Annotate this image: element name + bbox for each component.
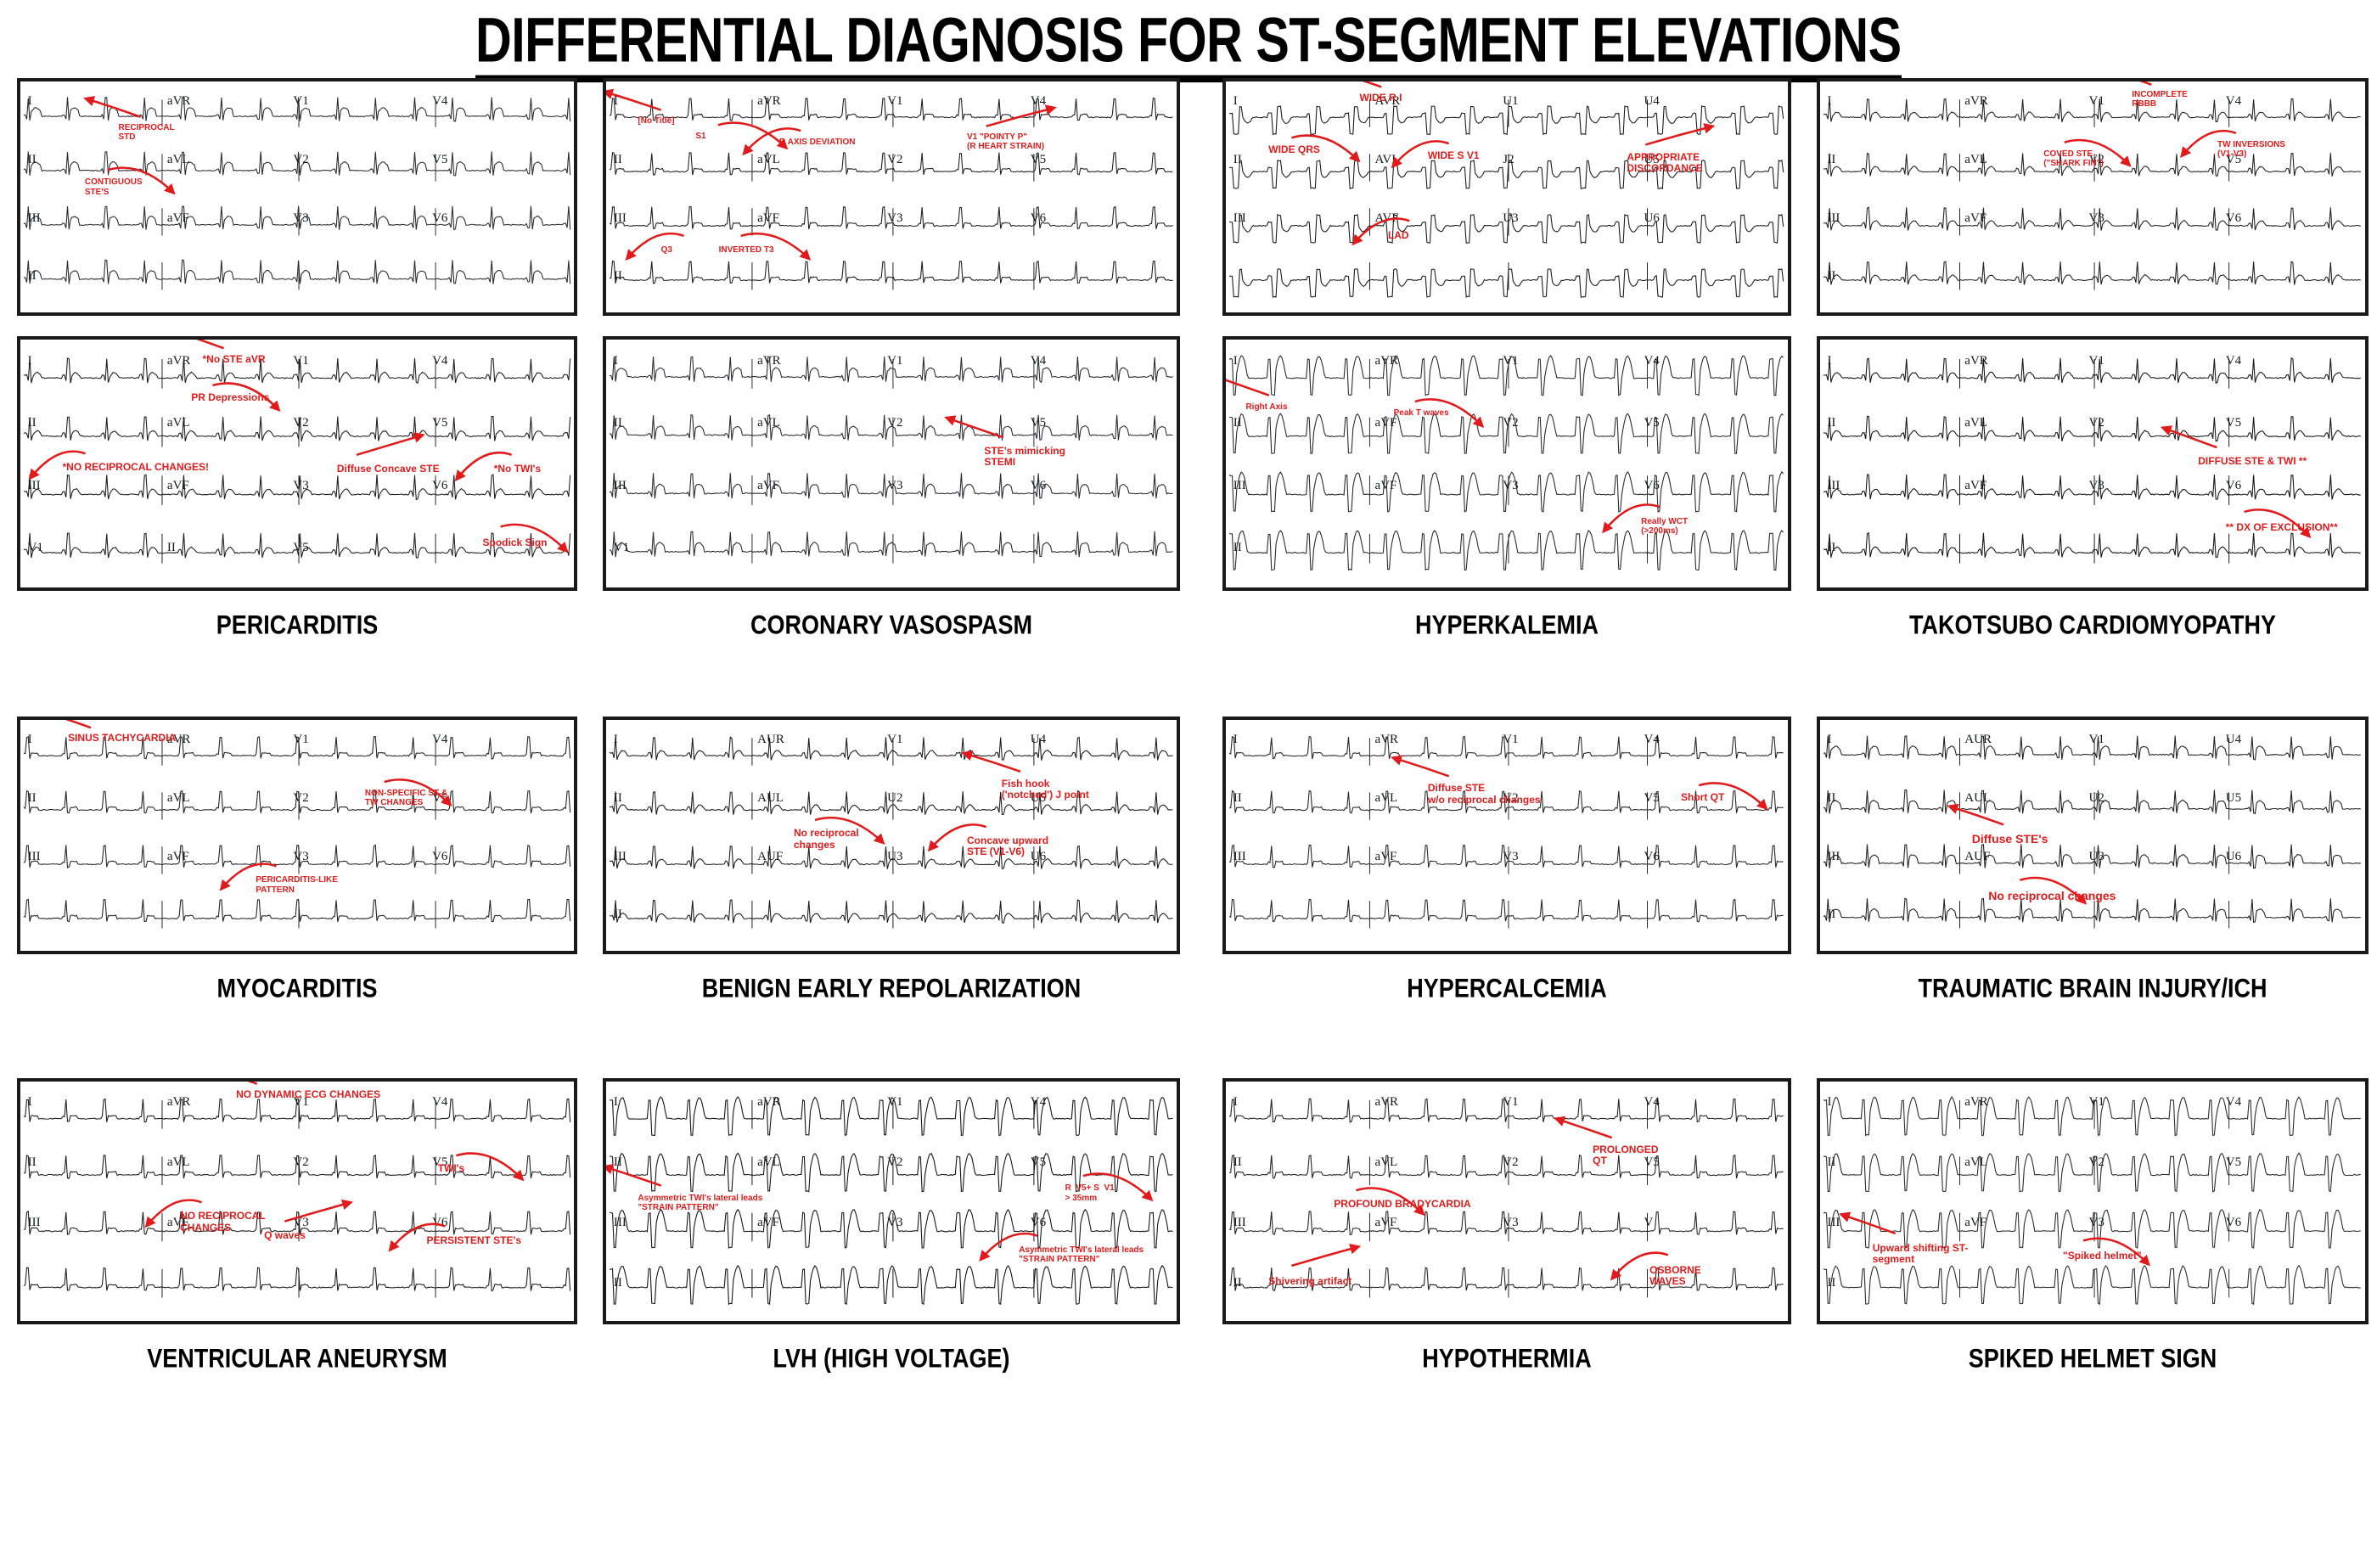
- panel-caption-hypercalcemia: HYPERCALCEMIA: [1222, 973, 1791, 1004]
- panel-ventricular-aneurysm: IaVRV1V4IIaVLV2V5IIIaVFV3V6NO DYNAMIC EC…: [17, 1078, 577, 1384]
- annotation-arrow-layer: [20, 340, 574, 587]
- panel-caption-ventricular-aneurysm: VENTRICULAR ANEURYSM: [17, 1343, 577, 1374]
- ecg-image-lvh-high-voltage: IaVRV1V4IIaVLV2V5IIIaVFV3V6IIAsymmetric …: [603, 1078, 1180, 1324]
- annotation-arrow-layer: [606, 720, 1177, 951]
- panel-pulmonary-embolism: IaVRV1V4IIaVLV2V5IIIaVFV3V6II[No Title]S…: [603, 78, 1180, 375]
- annotation-arrow-layer: [606, 1082, 1177, 1321]
- annotation-arrow-layer: [606, 340, 1177, 587]
- panel-hypothermia: IaVRV1V4IIaVLV2V5IIIaVFV3VIIPROLONGED QT…: [1222, 1078, 1791, 1384]
- annotation-arrow-layer: [20, 720, 574, 951]
- annotation-arrow-layer: [1226, 720, 1788, 951]
- annotation-arrow-layer: [20, 81, 574, 312]
- annotation-arrow-layer: [1820, 81, 2365, 312]
- infographic-page: DIFFERENTIAL DIAGNOSIS FOR ST-SEGMENT EL…: [0, 0, 2377, 1568]
- panel-caption-takotsubo-cardiomyopathy: TAKOTSUBO CARDIOMYOPATHY: [1817, 610, 2369, 641]
- annotation-arrow-layer: [1820, 720, 2365, 951]
- panel-myocarditis: IaVRV1V4IIaVLV2V5IIIaVFV3V6SINUS TACHYCA…: [17, 717, 577, 1014]
- annotation-arrow-layer: [1226, 81, 1788, 312]
- title-bar: DIFFERENTIAL DIAGNOSIS FOR ST-SEGMENT EL…: [0, 7, 2377, 69]
- panel-traumatic-brain-injury: IAURV1U4IIAULU2U5IIIAUFU3U6IIDiffuse STE…: [1817, 717, 2369, 1014]
- ecg-image-ventricular-aneurysm: IaVRV1V4IIaVLV2V5IIIaVFV3V6NO DYNAMIC EC…: [17, 1078, 577, 1324]
- panel-coronary-vasospasm: IaVRV1V4IIaVLV2V5IIIaVFV3V6V1STE's mimic…: [603, 336, 1180, 650]
- ecg-image-traumatic-brain-injury: IAURV1U4IIAULU2U5IIIAUFU3U6IIDiffuse STE…: [1817, 717, 2369, 954]
- panel-brugada-sign: IaVRV1V4IIaVLV2V5IIIaVFV3V6IIINCOMPLETE …: [1817, 78, 2369, 375]
- annotation-arrow-layer: [1820, 1082, 2365, 1321]
- ecg-image-pericarditis: IaVRV1V4IIaVLV2V5IIIaVFV3V6V1IIV5*No STE…: [17, 336, 577, 591]
- annotation-arrow-layer: [1820, 340, 2365, 587]
- page-title: DIFFERENTIAL DIAGNOSIS FOR ST-SEGMENT EL…: [475, 7, 1902, 82]
- panel-spiked-helmet-sign: IaVRV1V4IIaVLV2V5IIIaVFV3V6IIUpward shif…: [1817, 1078, 2369, 1384]
- panel-takotsubo-cardiomyopathy: IaVRV1V4IIaVLV2V5IIIaVFV3V6IIDIFFUSE STE…: [1817, 336, 2369, 650]
- ecg-image-hyperkalemia: IaVRV1V4IIaVFV2V5IIIaVFV3V6IIRight AxisP…: [1222, 336, 1791, 591]
- annotation-arrow-layer: [606, 81, 1177, 312]
- ecg-image-acute-stemi: IaVRV1V4IIaVLV2V5IIIaVFV3V6IIRECIPROCAL …: [17, 78, 577, 316]
- ecg-image-lbbb-pacemaker: IAVRU1U4IIAVLJ2U5IIIAVFU3U6WIDE R IWIDE …: [1222, 78, 1791, 316]
- panel-caption-pericarditis: PERICARDITIS: [17, 610, 577, 641]
- panel-caption-benign-early-repolarization: BENIGN EARLY REPOLARIZATION: [603, 973, 1180, 1004]
- panel-caption-coronary-vasospasm: CORONARY VASOSPASM: [603, 610, 1180, 641]
- annotation-arrow-layer: [1226, 340, 1788, 587]
- panel-caption-spiked-helmet-sign: SPIKED HELMET SIGN: [1817, 1343, 2369, 1374]
- panel-grid: IaVRV1V4IIaVLV2V5IIIaVFV3V6IIRECIPROCAL …: [0, 81, 2377, 1568]
- panel-lbbb-pacemaker: IAVRU1U4IIAVLJ2U5IIIAVFU3U6WIDE R IWIDE …: [1222, 78, 1791, 375]
- panel-caption-lvh-high-voltage: LVH (HIGH VOLTAGE): [603, 1343, 1180, 1374]
- panel-caption-traumatic-brain-injury: TRAUMATIC BRAIN INJURY/ICH: [1817, 973, 2369, 1004]
- ecg-image-coronary-vasospasm: IaVRV1V4IIaVLV2V5IIIaVFV3V6V1STE's mimic…: [603, 336, 1180, 591]
- ecg-image-pulmonary-embolism: IaVRV1V4IIaVLV2V5IIIaVFV3V6II[No Title]S…: [603, 78, 1180, 316]
- ecg-image-hypothermia: IaVRV1V4IIaVLV2V5IIIaVFV3VIIPROLONGED QT…: [1222, 1078, 1791, 1324]
- panel-lvh-high-voltage: IaVRV1V4IIaVLV2V5IIIaVFV3V6IIAsymmetric …: [603, 1078, 1180, 1384]
- panel-hyperkalemia: IaVRV1V4IIaVFV2V5IIIaVFV3V6IIRight AxisP…: [1222, 336, 1791, 650]
- panel-caption-hypothermia: HYPOTHERMIA: [1222, 1343, 1791, 1374]
- panel-hypercalcemia: IaVRV1V4IIaVLV2V5IIIaVFV3V6Diffuse STE w…: [1222, 717, 1791, 1014]
- panel-caption-hyperkalemia: HYPERKALEMIA: [1222, 610, 1791, 641]
- ecg-image-takotsubo-cardiomyopathy: IaVRV1V4IIaVLV2V5IIIaVFV3V6IIDIFFUSE STE…: [1817, 336, 2369, 591]
- annotation-arrow-layer: [1226, 1082, 1788, 1321]
- ecg-image-myocarditis: IaVRV1V4IIaVLV2V5IIIaVFV3V6SINUS TACHYCA…: [17, 717, 577, 954]
- panel-caption-myocarditis: MYOCARDITIS: [17, 973, 577, 1004]
- panel-acute-stemi: IaVRV1V4IIaVLV2V5IIIaVFV3V6IIRECIPROCAL …: [17, 78, 577, 375]
- panel-pericarditis: IaVRV1V4IIaVLV2V5IIIaVFV3V6V1IIV5*No STE…: [17, 336, 577, 650]
- ecg-image-hypercalcemia: IaVRV1V4IIaVLV2V5IIIaVFV3V6Diffuse STE w…: [1222, 717, 1791, 954]
- ecg-image-spiked-helmet-sign: IaVRV1V4IIaVLV2V5IIIaVFV3V6IIUpward shif…: [1817, 1078, 2369, 1324]
- panel-benign-early-repolarization: IAURV1U4IIAULU2U5IIIAUFU3U6IIFish hook (…: [603, 717, 1180, 1014]
- ecg-image-benign-early-repolarization: IAURV1U4IIAULU2U5IIIAUFU3U6IIFish hook (…: [603, 717, 1180, 954]
- annotation-arrow-layer: [20, 1082, 574, 1321]
- ecg-image-brugada-sign: IaVRV1V4IIaVLV2V5IIIaVFV3V6IIINCOMPLETE …: [1817, 78, 2369, 316]
